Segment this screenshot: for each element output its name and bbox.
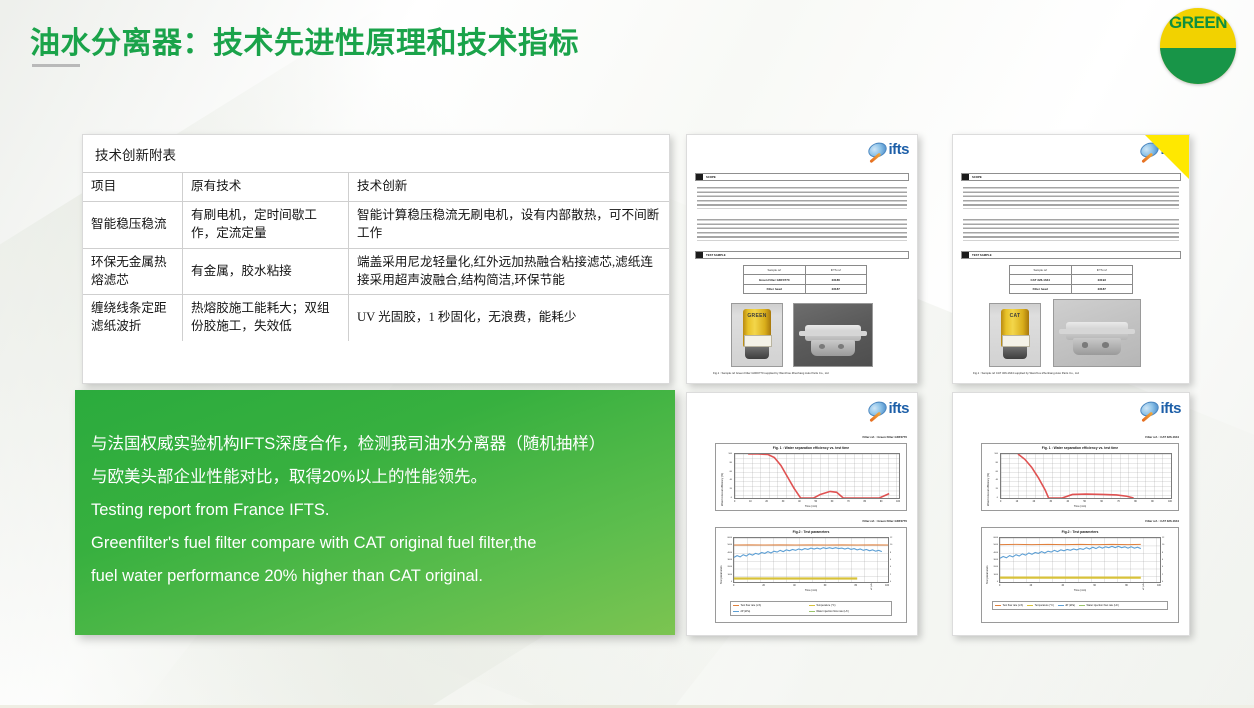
table-cell: CAT 326-1644 xyxy=(1010,275,1072,284)
highlight-line: 与法国权威实验机构IFTS深度合作，检测我司油水分离器（随机抽样） xyxy=(91,428,649,461)
tick: 2000 xyxy=(994,566,998,568)
legend-item: dP (kPa) xyxy=(1058,604,1075,608)
table-cell-new: UV 光固胶，1 秒固化，无浪费，能耗少 xyxy=(349,295,670,341)
tick: 4000 xyxy=(728,552,732,554)
head-hole xyxy=(838,344,844,349)
tick: 6000 xyxy=(728,537,732,539)
tick: 90 xyxy=(880,501,883,503)
table-row: CAT 326-1644 23193 xyxy=(1010,275,1133,284)
canister-label xyxy=(744,335,772,347)
tick: 80 xyxy=(1125,585,1128,587)
tick: 30 xyxy=(1050,501,1053,503)
tick: 6 xyxy=(890,559,891,561)
table-cell-item: 环保无金属热熔滤芯 xyxy=(83,248,183,295)
chart-y-ticks: 6000 5000 4000 3000 2000 1000 0 xyxy=(988,537,998,583)
tick: 80 xyxy=(1134,501,1137,503)
table-row: Sample ref IFTS ref xyxy=(744,266,867,275)
chart-y-ticks: 100 80 60 40 20 0 xyxy=(989,453,998,499)
table-header-cell: Sample ref xyxy=(1010,266,1072,275)
tick: 70 xyxy=(1117,501,1120,503)
canister-brand-text: CAT xyxy=(990,313,1040,319)
tick: 40 xyxy=(798,501,801,503)
legend-item: Water injection flow rate (L/h) xyxy=(809,609,881,614)
chart-legend: Test flow rate (L/h) Temperature (°C) dP… xyxy=(992,601,1168,610)
paragraph-scope-1 xyxy=(963,187,1179,209)
innovation-table: 项目 原有技术 技术创新 智能稳压稳流 有刷电机，定时间歇工作，定流定量 智能计… xyxy=(83,173,669,341)
tick: 60 xyxy=(996,471,998,473)
table-cell-item: 智能稳压稳流 xyxy=(83,201,183,248)
canister-brand-text: GREEN xyxy=(732,313,782,319)
tick: 100 xyxy=(885,585,889,587)
head-hole xyxy=(1082,342,1089,347)
table-cell-old: 有金属，胶水粘接 xyxy=(183,248,349,295)
ifts-disc-icon xyxy=(866,139,889,159)
slide-canvas: 油水分离器：技术先进性原理和技术指标 GREEN FILTER 技术创新附表 项… xyxy=(0,0,1254,708)
head-bar xyxy=(1059,329,1135,334)
tick: 50 xyxy=(814,501,817,503)
section-label: TEST SAMPLE xyxy=(696,253,726,257)
yellow-corner-flag xyxy=(1144,134,1190,180)
table-cell: Filter head xyxy=(1010,284,1072,293)
canister-base xyxy=(1003,347,1027,358)
tick: 5000 xyxy=(728,544,732,546)
legend-label: dP (kPa) xyxy=(741,610,751,613)
head-hole xyxy=(1102,342,1109,347)
ifts-disc-icon xyxy=(1138,398,1161,418)
table-row: 环保无金属热熔滤芯 有金属，胶水粘接 端盖采用尼龙轻量化,红外远加热融合粘接滤芯… xyxy=(83,248,669,295)
tick: 6000 xyxy=(994,537,998,539)
section-header-test-sample: TEST SAMPLE xyxy=(961,251,1181,259)
tick: 40 xyxy=(1061,585,1064,587)
figure-caption: Fig.1 : Sample ref Green Filter GDF0770 … xyxy=(713,371,907,375)
tick: 2 xyxy=(1162,574,1163,576)
highlight-callout-box: 与法国权威实验机构IFTS深度合作，检测我司油水分离器（随机抽样） 与欧美头部企… xyxy=(75,390,675,635)
tick: 12 xyxy=(1162,537,1164,539)
title-underline xyxy=(32,64,80,67)
chart-x-axis-label: Time (min) xyxy=(716,505,906,508)
chart-x-ticks: 0 20 40 60 80 100 xyxy=(733,585,889,587)
table-cell-old: 有刷电机，定时间歇工作，定流定量 xyxy=(183,201,349,248)
legend-item: Water injection flow rate (L/h) xyxy=(1079,604,1119,608)
document-thumb-green-charts[interactable]: ifts Filter ref. : Green Filter GDF0770 … xyxy=(686,392,918,636)
document-thumb-cat-scope[interactable]: ifts SCOPE TEST SAMPLE Sample ref IFTS r… xyxy=(952,134,1190,384)
cat-filter-canister-photo: CAT xyxy=(989,303,1041,367)
highlight-line: Testing report from France IFTS. xyxy=(91,494,649,527)
tick: 0 xyxy=(731,497,732,499)
highlight-line: fuel water performance 20% higher than C… xyxy=(91,560,649,593)
section-label: SCOPE xyxy=(962,175,982,179)
tick: 60 xyxy=(824,585,827,587)
tick: 20 xyxy=(1033,501,1036,503)
ifts-wordmark: ifts xyxy=(889,401,910,416)
tick: 40 xyxy=(730,479,732,481)
table-cell-new: 智能计算稳压稳流无刷电机，设有内部散热，可不间断工作 xyxy=(349,201,670,248)
tick: 0 xyxy=(733,585,734,587)
tick: 10 xyxy=(1016,501,1019,503)
tick: 100 xyxy=(896,501,900,503)
table-cell-item: 缠绕线条定距滤纸波折 xyxy=(83,295,183,341)
logo-word-green: GREEN xyxy=(1160,13,1236,33)
chart-y-ticks: 100 80 60 40 20 0 xyxy=(723,453,732,499)
tick: 80 xyxy=(730,462,732,464)
highlight-line: 与欧美头部企业性能对比，取得20%以上的性能领先。 xyxy=(91,461,649,494)
table-row: Green Filter GDF0770 23186 xyxy=(744,275,867,284)
table-cell: Green Filter GDF0770 xyxy=(744,275,806,284)
table-row: 缠绕线条定距滤纸波折 热熔胶施工能耗大；双组份胶施工，失效低 UV 光固胶，1 … xyxy=(83,295,669,341)
chart-plot-area xyxy=(733,537,889,583)
table-header-cell: Sample ref xyxy=(744,266,806,275)
tick: 80 xyxy=(854,585,857,587)
tick: 20 xyxy=(1030,585,1033,587)
tick: 12 xyxy=(890,537,892,539)
filter-ref-label: Filter ref. : CAT 326-1644 xyxy=(1145,435,1179,439)
logo-word-filter: FILTER xyxy=(1160,32,1236,52)
tick: 90 xyxy=(1151,501,1154,503)
green-filter-logo: GREEN FILTER xyxy=(1160,8,1236,84)
tick: 1000 xyxy=(728,574,732,576)
tick: 10 xyxy=(1162,544,1164,546)
tick: 60 xyxy=(1100,501,1103,503)
table-row: Sample ref IFTS ref xyxy=(1010,266,1133,275)
chart-plot-area xyxy=(1000,453,1172,499)
ifts-logo: ifts xyxy=(1140,401,1182,416)
chart-series-svg xyxy=(1001,454,1171,498)
filter-head-photo xyxy=(1053,299,1141,367)
legend-label: Water injection flow rate (L/h) xyxy=(816,610,848,613)
tick: 40 xyxy=(996,479,998,481)
logo-lower-half xyxy=(1160,48,1236,84)
legend-label: Test flow rate (L/h) xyxy=(741,604,762,607)
tick: 70 xyxy=(847,501,850,503)
chart-test-parameters: Fig.2 : Test parameters Test parameters … xyxy=(981,527,1179,623)
tick: 0 xyxy=(890,581,891,583)
tick: 3000 xyxy=(728,559,732,561)
chart-plot-area xyxy=(999,537,1161,583)
filter-head-photo xyxy=(793,303,873,367)
tick: 60 xyxy=(831,501,834,503)
tick: 8 xyxy=(1162,552,1163,554)
table-cell: 23186 xyxy=(805,275,867,284)
chart-test-parameters: Fig.2 : Test parameters Test parameters … xyxy=(715,527,907,623)
filter-ref-label-bottom: Filter ref. : CAT 326-1644 xyxy=(1145,519,1179,523)
tick: 50 xyxy=(1083,501,1086,503)
legend-item: Temperature (°C) xyxy=(809,604,881,609)
document-thumb-green-scope[interactable]: ifts SCOPE TEST SAMPLE Sample ref IFTS r… xyxy=(686,134,918,384)
table-cell: Filter head xyxy=(744,284,806,293)
table-row: Filter head 23187 xyxy=(744,284,867,293)
section-header-scope: SCOPE xyxy=(695,173,909,181)
tick: 40 xyxy=(1066,501,1069,503)
tick: 5000 xyxy=(994,544,998,546)
tick: 2 xyxy=(890,574,891,576)
section-label: TEST SAMPLE xyxy=(962,253,992,257)
legend-label: dP (kPa) xyxy=(1065,604,1075,607)
tick: 10 xyxy=(890,544,892,546)
legend-item: dP (kPa) xyxy=(733,609,805,614)
section-label: SCOPE xyxy=(696,175,716,179)
tick: 8 xyxy=(890,552,891,554)
tick: 0 xyxy=(997,581,998,583)
document-thumb-cat-charts[interactable]: ifts Filter ref. : CAT 326-1644 Fig. 1 :… xyxy=(952,392,1190,636)
tick: 4000 xyxy=(994,552,998,554)
table-cell-old: 热熔胶施工能耗大；双组份胶施工，失效低 xyxy=(183,295,349,341)
table-cell: 23193 xyxy=(1071,275,1133,284)
table-header-cell: IFTS ref xyxy=(805,266,867,275)
table-cell: 23187 xyxy=(1071,284,1133,293)
tick: 4 xyxy=(1162,566,1163,568)
tick: 0 xyxy=(731,581,732,583)
tick: 0 xyxy=(997,497,998,499)
head-bar xyxy=(799,331,868,335)
tick: 20 xyxy=(996,488,998,490)
head-foot xyxy=(811,340,855,356)
tick: 20 xyxy=(730,488,732,490)
paragraph-scope-1 xyxy=(697,187,907,209)
tick: 0 xyxy=(1000,501,1001,503)
chart-legend: Test flow rate (L/h) Temperature (°C) dP… xyxy=(730,601,892,616)
innovation-table-card: 技术创新附表 项目 原有技术 技术创新 智能稳压稳流 有刷电机，定时间歇工作，定… xyxy=(82,134,670,384)
chart-title: Fig.2 : Test parameters xyxy=(716,528,906,534)
table-cell-new: 端盖采用尼龙轻量化,红外远加热融合粘接滤芯,滤纸连接采用超声波融合,结构简洁,环… xyxy=(349,248,670,295)
table-row: Filter head 23187 xyxy=(1010,284,1133,293)
page-title: 油水分离器：技术先进性原理和技术指标 xyxy=(30,18,579,62)
head-foot xyxy=(1073,338,1121,355)
chart-title: Fig. 1 : Water separation efficiency vs.… xyxy=(982,444,1178,450)
green-filter-canister-photo: GREEN xyxy=(731,303,783,367)
chart-y-ticks: 6000 5000 4000 3000 2000 1000 0 xyxy=(722,537,732,583)
table-cell: 23187 xyxy=(805,284,867,293)
chart-series-svg xyxy=(734,538,888,582)
tick: 0 xyxy=(734,501,735,503)
ifts-logo: ifts xyxy=(868,142,910,157)
legend-item: Temperature (°C) xyxy=(1027,604,1054,608)
legend-label: Temperature (°C) xyxy=(1035,604,1054,607)
ifts-disc-icon xyxy=(866,398,889,418)
tick: 100 xyxy=(1157,585,1161,587)
innovation-table-caption: 技术创新附表 xyxy=(83,135,669,173)
ifts-wordmark: ifts xyxy=(1161,401,1182,416)
tick: 100 xyxy=(728,453,732,455)
tick: 80 xyxy=(996,462,998,464)
chart-x-ticks: 0 10 20 30 40 50 60 70 80 90 100 xyxy=(734,501,900,503)
tick: 4 xyxy=(890,566,891,568)
tick: 3000 xyxy=(994,559,998,561)
chart-x-axis-label: Time (min) xyxy=(982,589,1178,592)
tick: 20 xyxy=(762,585,765,587)
chart-x-ticks: 0 10 20 30 40 50 60 70 80 90 100 xyxy=(1000,501,1172,503)
legend-label: Water injection flow rate (L/h) xyxy=(1086,604,1118,607)
chart-water-separation-efficiency: Fig. 1 : Water separation efficiency vs.… xyxy=(715,443,907,511)
chart-plot-area xyxy=(734,453,900,499)
chart-x-ticks: 0 20 40 60 80 100 xyxy=(999,585,1161,587)
tick: 30 xyxy=(782,501,785,503)
tick: 60 xyxy=(730,471,732,473)
table-header-cell: 项目 xyxy=(83,173,183,201)
tick: 1000 xyxy=(994,574,998,576)
highlight-line: Greenfilter's fuel filter compare with C… xyxy=(91,527,649,560)
chart-x-axis-label: Time (min) xyxy=(982,505,1178,508)
tick: 6 xyxy=(1162,559,1163,561)
chart-y2-ticks: 12 10 8 6 4 2 0 xyxy=(1162,537,1172,583)
tick: 10 xyxy=(749,501,752,503)
sample-ref-table: Sample ref IFTS ref CAT 326-1644 23193 F… xyxy=(1009,265,1133,294)
tick: 0 xyxy=(1162,581,1163,583)
paragraph-scope-2 xyxy=(963,219,1179,241)
tick: 60 xyxy=(1093,585,1096,587)
chart-series-svg xyxy=(1000,538,1160,582)
paragraph-scope-2 xyxy=(697,219,907,241)
chart-title: Fig.2 : Test parameters xyxy=(982,528,1178,534)
legend-item: Test flow rate (L/h) xyxy=(733,604,805,609)
sample-ref-table: Sample ref IFTS ref Green Filter GDF0770… xyxy=(743,265,867,294)
tick: 40 xyxy=(793,585,796,587)
section-header-test-sample: TEST SAMPLE xyxy=(695,251,909,259)
tick: 100 xyxy=(1168,501,1172,503)
table-row: 智能稳压稳流 有刷电机，定时间歇工作，定流定量 智能计算稳压稳流无刷电机，设有内… xyxy=(83,201,669,248)
tick: 20 xyxy=(765,501,768,503)
tick: 100 xyxy=(994,453,998,455)
chart-series-svg xyxy=(735,454,899,498)
legend-label: Test flow rate (L/h) xyxy=(1003,604,1024,607)
legend-item: Test flow rate (L/h) xyxy=(995,604,1023,608)
legend-label: Temperature (°C) xyxy=(816,604,835,607)
table-header-cell: 技术创新 xyxy=(349,173,670,201)
filter-ref-label-bottom: Filter ref. : Green Filter GDF0770 xyxy=(863,519,908,523)
tick: 2000 xyxy=(728,566,732,568)
chart-y2-ticks: 12 10 8 6 4 2 0 xyxy=(890,537,900,583)
canister-label xyxy=(1002,335,1030,347)
table-header-cell: IFTS ref xyxy=(1071,266,1133,275)
table-header-row: 项目 原有技术 技术创新 xyxy=(83,173,669,201)
table-header-cell: 原有技术 xyxy=(183,173,349,201)
head-hole xyxy=(819,344,825,349)
ifts-wordmark: ifts xyxy=(889,142,910,157)
chart-title: Fig. 1 : Water separation efficiency vs.… xyxy=(716,444,906,450)
figure-caption: Fig.1 : Sample ref CAT 326-1644 supplied… xyxy=(973,371,1179,375)
tick: 80 xyxy=(863,501,866,503)
canister-base xyxy=(745,347,769,358)
chart-water-separation-efficiency: Fig. 1 : Water separation efficiency vs.… xyxy=(981,443,1179,511)
chart-x-axis-label: Time (min) xyxy=(716,589,906,592)
filter-ref-label: Filter ref. : Green Filter GDF0770 xyxy=(863,435,908,439)
tick: 0 xyxy=(999,585,1000,587)
ifts-logo: ifts xyxy=(868,401,910,416)
